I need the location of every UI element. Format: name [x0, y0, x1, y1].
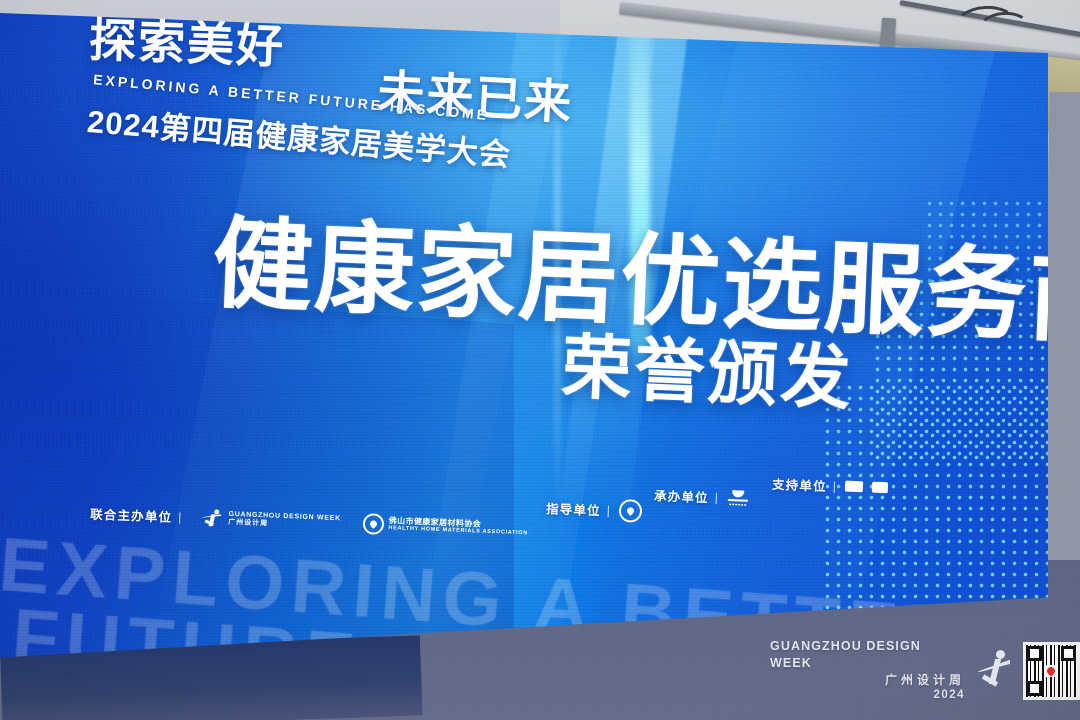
sponsor-label-guidance: 指导单位: [546, 498, 602, 519]
sponsor-row-guidance: 指导单位 |: [546, 496, 643, 523]
sponsor-separator: |: [178, 509, 182, 523]
support-logo-2-icon: [872, 482, 888, 494]
award-title-sub: 荣誉颁发: [560, 311, 856, 424]
screenshot-stage: EXPLORING A BETTER FUTURE HAS COME 探索美好 …: [0, 0, 1080, 720]
organizer-academy-icon: [727, 489, 750, 506]
flying-figure-icon: [201, 508, 224, 527]
watermark-cn: 广州设计周: [885, 672, 965, 688]
qr-eye-bottom-left: [1027, 681, 1042, 696]
sponsor-row-organizer: 承办单位 |: [654, 485, 750, 508]
qr-code[interactable]: [1023, 642, 1080, 700]
sponsor-separator-organizer: |: [715, 490, 719, 504]
watermark-year: 2024: [933, 688, 965, 704]
led-backdrop-wall: EXPLORING A BETTER FUTURE HAS COME 探索美好 …: [0, 6, 1048, 678]
sponsor-label-support: 支持单位: [772, 474, 828, 495]
watermark-en: GUANGZHOU DESIGN WEEK: [770, 638, 965, 672]
sponsor-label-cohost: 联合主办单位: [90, 504, 173, 526]
sponsor-separator-support: |: [833, 479, 837, 493]
headline-cn-primary: 探索美好: [88, 16, 286, 70]
headline-block: 探索美好 未来已来 EXPLORING A BETTER FUTURE HAS …: [88, 16, 286, 70]
qr-eye-top-left: [1027, 646, 1042, 661]
association-ring-icon: [362, 513, 384, 535]
qr-eye-top-right: [1061, 646, 1076, 661]
watermark-flying-figure-icon: [977, 648, 1011, 694]
sponsor-label-organizer: 承办单位: [654, 485, 710, 506]
support-logo-1-icon: [845, 481, 863, 493]
watermark-text: GUANGZHOU DESIGN WEEK 广州设计周 2024: [770, 638, 965, 703]
qr-center-logo: [1045, 665, 1057, 677]
guidance-org-icon: [618, 499, 642, 523]
logo-guangzhou-design-week: GUANGZHOU DESIGN WEEK 广州设计周: [201, 508, 341, 531]
watermark-block: GUANGZHOU DESIGN WEEK 广州设计周 2024: [770, 638, 1080, 703]
sponsor-separator-guidance: |: [607, 503, 611, 517]
